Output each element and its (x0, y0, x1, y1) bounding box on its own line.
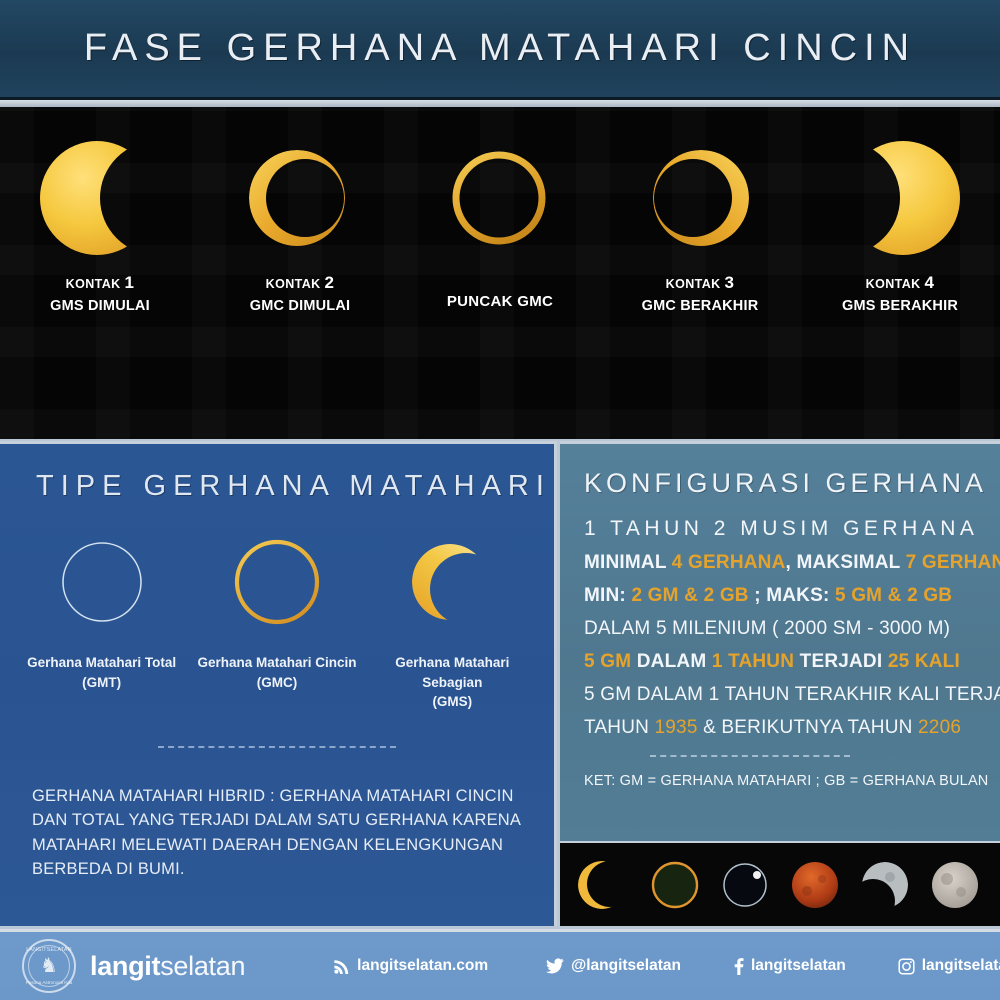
highlight-part: 5 GM & 2 GB (835, 585, 952, 606)
highlight-part: 4 GERHANA (672, 552, 786, 573)
eclipse-types-section: TIPE GERHANA MATAHARI Gerhana Matahari T… (0, 441, 557, 926)
sun-bite-left-icon (835, 125, 965, 270)
seal-bottom-text: Pesona Astronomi Kita (24, 980, 74, 985)
type-name: Gerhana Matahari Cincin (197, 655, 356, 670)
text-part: TAHUN (584, 717, 655, 738)
highlight-part: 25 KALI (888, 651, 960, 672)
phase-sublabel: GMC BERAKHIR (642, 297, 759, 317)
phase-sublabel: GMS DIMULAI (50, 297, 150, 317)
eclipse-configuration-section: KONFIGURASI GERHANA 1 TAHUN 2 MUSIM GERH… (560, 441, 1000, 841)
kontak-label: KONTAK (66, 277, 121, 291)
type-abbr: (GMS) (432, 694, 472, 709)
phase-kontak-1: KONTAK 1 GMS DIMULAI (0, 107, 200, 439)
highlight-part: 1 TAHUN (712, 651, 794, 672)
highlight-part: 7 GERHANA (906, 552, 1000, 573)
phase-puncak: PUNCAK GMC (400, 107, 600, 439)
text-part: ; MAKS: (749, 585, 835, 606)
social-label: langitselatanmedia (922, 957, 1000, 975)
social-label: @langitselatan (571, 957, 681, 975)
kontak-number: 3 (724, 273, 734, 292)
types-row: Gerhana Matahari Total (GMT) Gerhana Mat… (0, 527, 554, 712)
annular-ring-right-thick-icon (635, 125, 765, 270)
kontak-label: KONTAK (266, 277, 321, 291)
facebook-icon (733, 958, 744, 975)
config-min-max-breakdown: MIN: 2 GM & 2 GB ; MAKS: 5 GM & 2 GB (584, 585, 1000, 607)
social-label: langitselatan (751, 957, 846, 975)
social-twitter[interactable]: @langitselatan (546, 957, 681, 975)
config-last-occurrence-a: 5 GM DALAM 1 TAHUN TERAKHIR KALI TERJADI (584, 684, 1000, 706)
text-part: DALAM (631, 651, 712, 672)
total-eclipse-corona-icon (52, 527, 152, 637)
highlight-part: 2206 (918, 717, 961, 738)
seal-top-text: LANGITSELATAN (24, 947, 74, 953)
types-divider (158, 746, 396, 748)
highlight-part: 1935 (655, 717, 698, 738)
kontak-label: KONTAK (866, 277, 921, 291)
brand-wordmark: langitselatan (90, 951, 245, 982)
config-5gm-frequency: 5 GM DALAM 1 TAHUN TERJADI 25 KALI (584, 651, 1000, 673)
hybrid-eclipse-text: GERHANA MATAHARI HIBRID : GERHANA MATAHA… (32, 784, 524, 882)
type-gms: Gerhana Matahari Sebagian (GMS) (365, 527, 540, 712)
brand-bold: langit (90, 951, 160, 981)
kontak-number: 4 (924, 273, 934, 292)
type-name: Gerhana Matahari Total (27, 655, 176, 670)
brand-light: selatan (160, 951, 245, 981)
text-part: , MAKSIMAL (786, 552, 906, 573)
phase-kontak-2: KONTAK 2 GMC DIMULAI (200, 107, 400, 439)
twitter-icon (546, 958, 564, 974)
type-gmt: Gerhana Matahari Total (GMT) (14, 527, 189, 712)
config-last-occurrence-b: TAHUN 1935 & BERIKUTNYA TAHUN 2206 (584, 717, 1000, 739)
text-part: MINIMAL (584, 552, 672, 573)
social-label: langitselatan.com (357, 957, 488, 975)
phase-sublabel: GMC DIMULAI (250, 297, 350, 317)
config-legend-note: KET: GM = GERHANA MATAHARI ; GB = GERHAN… (584, 773, 1000, 789)
types-title: TIPE GERHANA MATAHARI (36, 470, 554, 503)
type-gmc: Gerhana Matahari Cincin (GMC) (189, 527, 364, 712)
social-instagram[interactable]: langitselatanmedia (898, 957, 1000, 975)
social-facebook[interactable]: langitselatan (733, 957, 846, 975)
kontak-number: 1 (124, 273, 134, 292)
annular-ring-left-thick-icon (235, 125, 365, 270)
brand-block: LANGITSELATAN ♞ Pesona Astronomi Kita la… (22, 939, 245, 993)
rss-icon (333, 958, 350, 975)
config-min-max-eclipses: MINIMAL 4 GERHANA, MAKSIMAL 7 GERHANA (584, 552, 1000, 574)
partial-lunar-eclipse-photo (857, 857, 913, 913)
config-divider (650, 755, 850, 757)
annular-ring-icon (227, 527, 327, 637)
infographic-page: FASE GERHANA MATAHARI CINCIN (0, 0, 1000, 1000)
highlight-part: 2 GM & 2 GB (631, 585, 748, 606)
total-solar-corona-photo (717, 857, 773, 913)
header-divider (0, 100, 1000, 107)
partial-solar-crescent-photo (577, 857, 633, 913)
social-rss[interactable]: langitselatan.com (333, 957, 488, 975)
phase-sublabel: GMS BERAKHIR (842, 297, 958, 317)
partial-crescent-icon (402, 527, 502, 637)
page-title: FASE GERHANA MATAHARI CINCIN (84, 27, 916, 70)
eclipse-phases-section: KONTAK 1 GMS DIMULAI (0, 107, 1000, 439)
langitselatan-seal-logo: LANGITSELATAN ♞ Pesona Astronomi Kita (22, 939, 76, 993)
text-part: TERJADI (794, 651, 888, 672)
text-part: & BERIKUTNYA TAHUN (698, 717, 918, 738)
text-part: MIN: (584, 585, 631, 606)
total-lunar-blood-moon-photo (787, 857, 843, 913)
instagram-icon (898, 958, 915, 975)
phase-kontak-3: KONTAK 3 GMC BERAKHIR (600, 107, 800, 439)
config-headline: 1 TAHUN 2 MUSIM GERHANA (584, 517, 1000, 541)
annular-solar-ring-photo (647, 857, 703, 913)
sun-bite-right-icon (35, 125, 165, 270)
type-name: Gerhana Matahari Sebagian (395, 655, 509, 690)
kontak-number: 2 (324, 273, 334, 292)
footer-bar: LANGITSELATAN ♞ Pesona Astronomi Kita la… (0, 929, 1000, 1000)
highlight-part: 5 GM (584, 651, 631, 672)
full-moon-photo (927, 857, 983, 913)
type-abbr: (GMC) (257, 675, 298, 690)
type-abbr: (GMT) (82, 675, 121, 690)
config-millennium-range: DALAM 5 MILENIUM ( 2000 SM - 3000 M) (584, 618, 1000, 640)
phase-kontak-4: KONTAK 4 GMS BERAKHIR (800, 107, 1000, 439)
configuration-title: KONFIGURASI GERHANA (584, 468, 1000, 499)
header-banner: FASE GERHANA MATAHARI CINCIN (0, 0, 1000, 100)
kontak-label: KONTAK (666, 277, 721, 291)
annular-ring-even-icon (435, 125, 565, 270)
eclipse-photo-strip (560, 841, 1000, 926)
phase-sublabel: PUNCAK GMC (447, 292, 553, 312)
